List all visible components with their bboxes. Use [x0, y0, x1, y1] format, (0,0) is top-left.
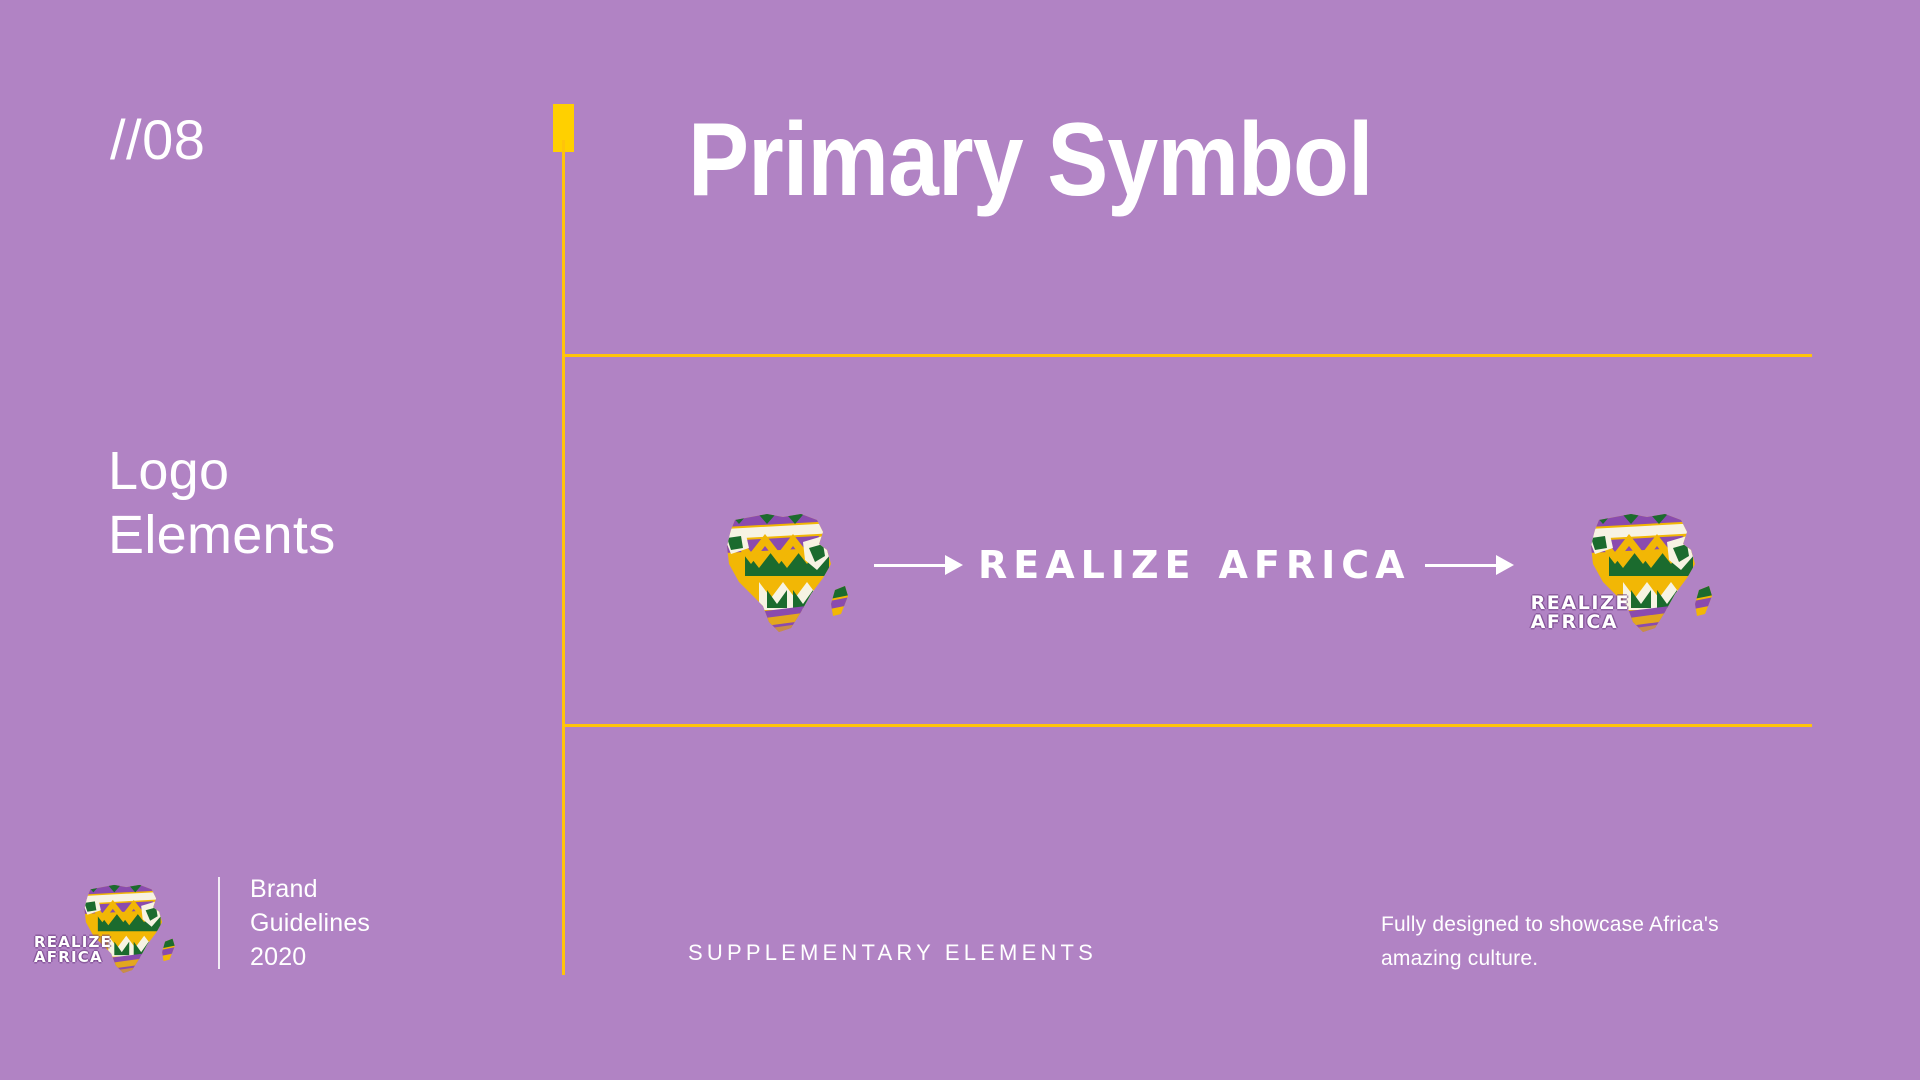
arrow-shaft: [874, 564, 946, 567]
arrow-right-icon-1: [860, 555, 978, 575]
logo-construction-row: REALIZEAFRICA: [700, 480, 1730, 650]
section-title-line-2: Elements: [108, 504, 336, 568]
page-title: Primary Symbol: [688, 108, 1373, 212]
wordmark-part-2: AFRICA: [1219, 543, 1411, 587]
lockup-wordmark-line-2: AFRICA: [1531, 613, 1630, 632]
footer-meta-line-3: 2020: [250, 940, 370, 974]
supplementary-elements-label: SUPPLEMENTARY ELEMENTS: [688, 940, 1097, 966]
footer-meta: Brand Guidelines 2020: [250, 872, 370, 974]
section-number: //08: [110, 112, 205, 168]
brand-guidelines-slide: //08 Logo Elements Primary Symbol: [0, 0, 1920, 1080]
primary-wordmark: REALIZEAFRICA: [978, 543, 1411, 587]
arrow-shaft: [1425, 564, 1497, 567]
footer-logo-line-2: AFRICA: [34, 950, 112, 965]
footer-logo: REALIZE AFRICA: [34, 863, 194, 983]
section-title-line-1: Logo: [108, 440, 336, 504]
footer-logo-wordmark: REALIZE AFRICA: [34, 935, 112, 965]
primary-symbol-mark: [700, 490, 860, 640]
lockup-wordmark: REALIZE AFRICA: [1531, 594, 1630, 632]
footer-meta-line-2: Guidelines: [250, 906, 370, 940]
vertical-guide-line: [562, 140, 565, 975]
primary-logo-lockup: REALIZE AFRICA: [1529, 490, 1719, 640]
horizontal-rule-bottom: [562, 724, 1812, 727]
footer-brand-block: REALIZE AFRICA Brand Guidelines 2020: [34, 858, 374, 988]
footer-meta-line-1: Brand: [250, 872, 370, 906]
footer-divider: [218, 877, 220, 969]
tagline: Fully designed to showcase Africa's amaz…: [1381, 908, 1781, 976]
arrow-head: [945, 555, 963, 575]
africa-map-icon: [705, 490, 855, 640]
horizontal-rule-top: [562, 354, 1812, 357]
arrow-head: [1496, 555, 1514, 575]
arrow-right-icon-2: [1411, 555, 1529, 575]
wordmark-part-1: REALIZE: [978, 543, 1197, 587]
section-title: Logo Elements: [108, 440, 336, 567]
